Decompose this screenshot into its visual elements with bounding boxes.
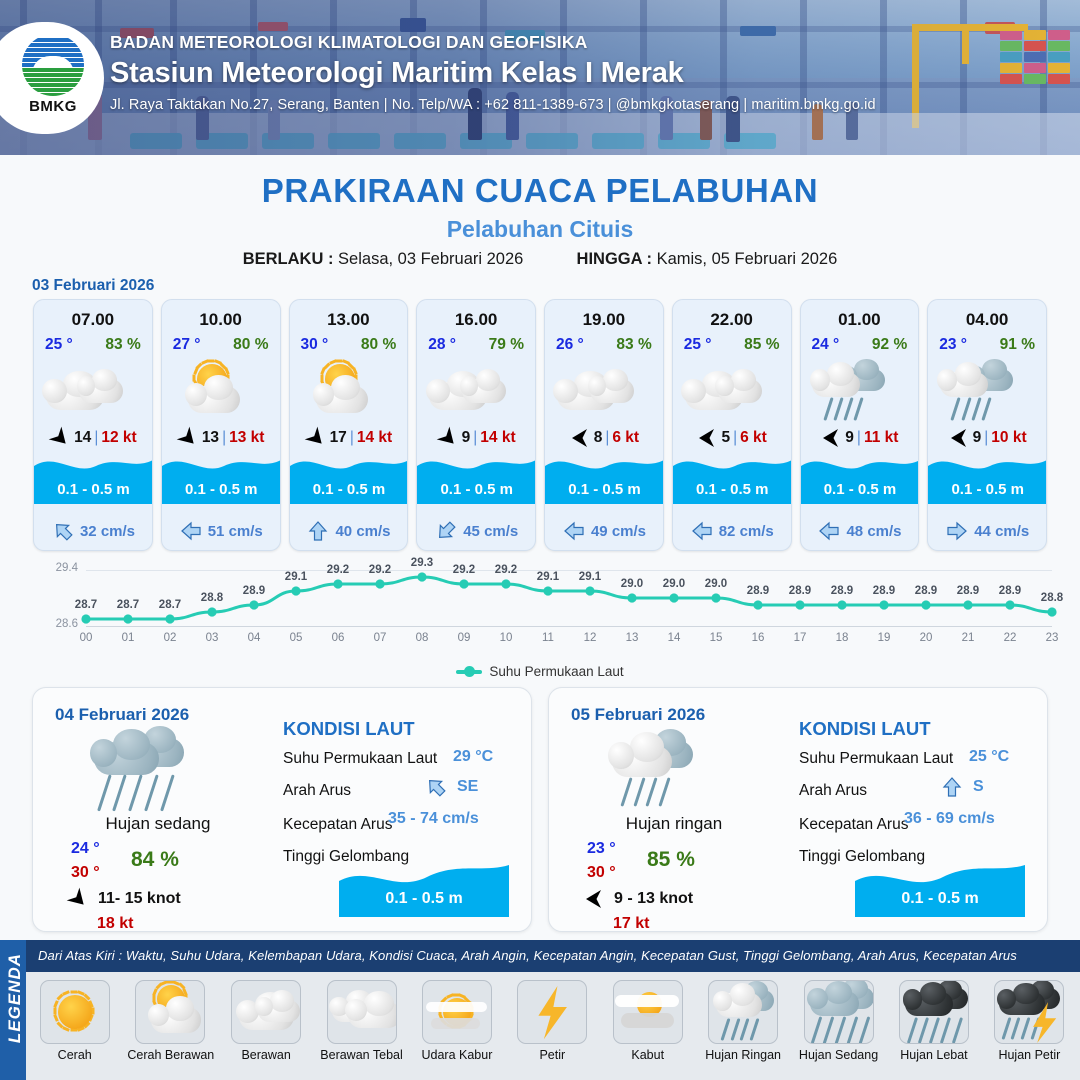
chart-point-label: 28.9	[951, 585, 985, 597]
chart-legend: Suhu Permukaan Laut	[0, 664, 1080, 679]
legend-item-label: Petir	[510, 1048, 595, 1062]
card-temperature: 23 °	[939, 336, 967, 354]
card-wind-row: 5 | 6 kt	[673, 429, 791, 447]
legend-item: Kabut	[605, 980, 690, 1076]
chart-xtick: 19	[870, 632, 898, 644]
chart-point-label: 29.0	[657, 578, 691, 590]
legend-icon-list: Cerah Cerah Berawan Berawan Berawan Teba…	[32, 980, 1072, 1076]
card-wind-separator: |	[605, 429, 609, 447]
bmkg-logo-text: BMKG	[16, 98, 90, 115]
panel-temp-min: 24 °	[71, 840, 100, 858]
cloud-shape	[730, 983, 756, 1006]
hour-card: 19.00 26 ° 83 % 8 | 6 kt 0.1 - 0.5 m	[544, 299, 664, 551]
panel-wave-graphic: 0.1 - 0.5 m	[339, 859, 509, 917]
legend-item-label: Kabut	[605, 1048, 690, 1062]
card-temperature: 27 °	[173, 336, 201, 354]
cloud-shape	[42, 379, 66, 403]
chart-point-label: 29.0	[699, 578, 733, 590]
chart-point-label: 28.8	[1035, 592, 1069, 604]
card-gust-speed: 10 kt	[991, 429, 1026, 447]
cloud-shape	[166, 996, 194, 1020]
wind-direction-arrow	[64, 885, 92, 913]
card-weather-icon-berawan	[417, 360, 535, 422]
chart-xtick: 06	[324, 632, 352, 644]
legend-item-label: Hujan Ringan	[700, 1048, 785, 1062]
card-humidity: 79 %	[489, 336, 524, 354]
cloud-shape	[426, 379, 450, 403]
panel-current-dir-label: Arah Arus	[799, 782, 867, 800]
card-current-row: 48 cm/s	[801, 520, 920, 542]
panel-temp-max: 30 °	[71, 864, 100, 882]
chart-point-label: 29.2	[321, 564, 355, 576]
panel-wind-row: 9 - 13 knot	[583, 890, 693, 908]
wind-direction-arrow	[46, 424, 74, 452]
chart-point-label: 29.2	[489, 564, 523, 576]
card-wind-degree: 17	[330, 429, 347, 447]
chart-point-label: 28.9	[741, 585, 775, 597]
rain-streak	[730, 1018, 740, 1041]
forecast-day-label: 03 Februari 2026	[32, 277, 154, 295]
rain-streak	[918, 1017, 929, 1043]
chart-point-label: 28.9	[993, 585, 1027, 597]
card-wind-separator: |	[857, 429, 861, 447]
cloud-shape	[681, 379, 705, 403]
legend-icon-berawan-tebal	[327, 980, 397, 1044]
sun-icon	[58, 995, 92, 1029]
rain-streak	[907, 1017, 918, 1043]
rain-streak	[749, 1018, 759, 1041]
card-temperature: 25 °	[684, 336, 712, 354]
card-temp-humidity-row: 28 ° 79 %	[417, 336, 535, 354]
legend-item: Hujan Petir	[987, 980, 1072, 1076]
page-subtitle: Pelabuhan Cituis	[0, 216, 1080, 243]
chart-point-label: 28.8	[195, 592, 229, 604]
wind-direction-arrow	[698, 427, 716, 449]
cloud-shape	[553, 379, 577, 403]
panel-gust: 17 kt	[613, 915, 649, 933]
panel-wind-row: 11- 15 knot	[67, 890, 181, 908]
panel-wave-value: 0.1 - 0.5 m	[339, 890, 509, 908]
panel-date: 05 Februari 2026	[571, 705, 705, 725]
rain-streak	[853, 397, 863, 421]
chart-point-label: 29.1	[573, 571, 607, 583]
card-temp-humidity-row: 30 ° 80 %	[290, 336, 408, 354]
wind-direction-arrow	[433, 424, 461, 452]
rain-streak	[859, 1016, 871, 1044]
rain-streak	[658, 777, 670, 806]
chart-legend-label: Suhu Permukaan Laut	[489, 664, 623, 679]
card-weather-icon-berawan	[545, 360, 663, 422]
chart-xtick: 17	[786, 632, 814, 644]
panel-date: 04 Februari 2026	[55, 705, 189, 725]
panel-current-speed-label: Kecepatan Arus	[283, 816, 392, 834]
card-wave-height: 0.1 - 0.5 m	[673, 481, 792, 498]
panel-humidity: 84 %	[131, 848, 179, 872]
rain-streak	[113, 774, 127, 811]
rain-streak	[811, 1016, 823, 1044]
card-weather-icon-berawan	[34, 360, 152, 422]
rain-streak	[128, 774, 142, 811]
card-time: 04.00	[928, 310, 1046, 330]
rain-streak	[951, 1017, 962, 1043]
card-wind-separator: |	[222, 429, 226, 447]
card-wave-height: 0.1 - 0.5 m	[545, 481, 664, 498]
header-banner: BMKG BADAN METEOROLOGI KLIMATOLOGI DAN G…	[0, 0, 1080, 155]
panel-weather-icon-hujan-sedang	[85, 730, 195, 808]
panel-wave-value: 0.1 - 0.5 m	[855, 890, 1025, 908]
legend-note: Dari Atas Kiri : Waktu, Suhu Udara, Kele…	[38, 948, 1017, 963]
card-wave-height: 0.1 - 0.5 m	[928, 481, 1047, 498]
chart-xtick: 23	[1038, 632, 1066, 644]
legend-side-bar: LEGENDA	[0, 940, 26, 1080]
cloud-shape	[903, 989, 923, 1009]
legend-item-label: Udara Kabur	[414, 1048, 499, 1062]
legend-icon-kabut	[613, 980, 683, 1044]
chart-xtick: 05	[282, 632, 310, 644]
current-direction-arrow	[420, 771, 451, 802]
card-temperature: 28 °	[428, 336, 456, 354]
card-temp-humidity-row: 25 ° 85 %	[673, 336, 791, 354]
legend-icon-cerah	[40, 980, 110, 1044]
card-gust-speed: 12 kt	[101, 429, 136, 447]
card-gust-speed: 14 kt	[480, 429, 515, 447]
panel-humidity: 85 %	[647, 848, 695, 872]
sst-chart: 29.428.6 28.70028.70128.70228.80328.9042…	[22, 556, 1060, 656]
legend-icon-berawan	[231, 980, 301, 1044]
rain-streak	[940, 1017, 951, 1043]
card-wave-height: 0.1 - 0.5 m	[801, 481, 920, 498]
cloud-shape	[603, 369, 628, 392]
rain-streak	[621, 777, 633, 806]
card-humidity: 85 %	[744, 336, 779, 354]
card-time: 10.00	[162, 310, 280, 330]
panel-wind-speed: 9 - 13 knot	[614, 890, 693, 908]
rain-streak	[97, 774, 111, 811]
rain-streak	[981, 397, 991, 421]
card-temperature: 25 °	[45, 336, 73, 354]
card-gust-speed: 14 kt	[357, 429, 392, 447]
rain-streak	[823, 397, 833, 421]
cloud-shape	[827, 362, 854, 386]
card-temperature: 26 °	[556, 336, 584, 354]
current-direction-arrow	[180, 520, 202, 542]
card-wind-degree: 13	[202, 429, 219, 447]
card-wind-degree: 9	[845, 429, 854, 447]
card-wind-separator: |	[94, 429, 98, 447]
card-temperature: 24 °	[812, 336, 840, 354]
wind-direction-arrow	[301, 424, 329, 452]
legend-item-label: Berawan	[223, 1048, 308, 1062]
cloud-shape	[90, 739, 117, 767]
rain-streak	[847, 1016, 859, 1044]
chart-xtick: 01	[114, 632, 142, 644]
panel-sst-label: Suhu Permukaan Laut	[283, 750, 437, 768]
chart-xtick: 15	[702, 632, 730, 644]
card-humidity: 83 %	[105, 336, 140, 354]
card-time: 01.00	[801, 310, 919, 330]
hour-card: 22.00 25 ° 85 % 5 | 6 kt 0.1 - 0.5 m	[672, 299, 792, 551]
current-direction-arrow	[431, 515, 462, 546]
legend-item-label: Berawan Tebal	[319, 1048, 404, 1062]
card-wind-row: 17 | 14 kt	[290, 429, 408, 447]
chart-point-label: 29.0	[615, 578, 649, 590]
card-wave-graphic: 0.1 - 0.5 m	[673, 450, 792, 504]
cloud-shape	[270, 990, 293, 1012]
card-humidity: 80 %	[361, 336, 396, 354]
daily-forecast-panel: 05 Februari 2026 Hujan ringan 23 ° 30 ° …	[548, 687, 1048, 932]
panel-temp-max: 30 °	[587, 864, 616, 882]
card-wind-row: 9 | 11 kt	[801, 429, 919, 447]
chart-xtick: 12	[576, 632, 604, 644]
header-station-name: Stasiun Meteorologi Maritim Kelas I Mera…	[110, 57, 876, 90]
card-current-row: 82 cm/s	[673, 520, 792, 542]
chart-point-label: 28.9	[909, 585, 943, 597]
hour-card: 01.00 24 ° 92 % 9 | 11 kt 0.1 - 0.5 m	[800, 299, 920, 551]
wind-direction-arrow	[174, 424, 202, 452]
panel-sst-value: 29 °C	[453, 748, 493, 766]
card-humidity: 83 %	[616, 336, 651, 354]
card-gust-speed: 13 kt	[229, 429, 264, 447]
panel-condition: Hujan sedang	[33, 814, 283, 834]
cloud-shape	[185, 383, 207, 406]
card-time: 19.00	[545, 310, 663, 330]
cloud-shape	[731, 369, 756, 392]
chart-xtick: 20	[912, 632, 940, 644]
card-current-row: 32 cm/s	[34, 520, 153, 542]
card-current-speed: 45 cm/s	[463, 523, 518, 540]
chart-xtick: 08	[408, 632, 436, 644]
chart-xtick: 22	[996, 632, 1024, 644]
sun-ray	[321, 374, 324, 381]
card-wave-graphic: 0.1 - 0.5 m	[162, 450, 281, 504]
hour-card: 13.00 30 ° 80 % 17 | 14 kt 0.1 - 0.5 m	[289, 299, 409, 551]
chart-point-label: 28.7	[111, 599, 145, 611]
validity-period: BERLAKU : Selasa, 03 Februari 2026 HINGG…	[0, 250, 1080, 269]
card-weather-icon-hujan-ringan	[928, 360, 1046, 422]
card-wind-separator: |	[733, 429, 737, 447]
rain-streak	[633, 777, 645, 806]
legend-item: Udara Kabur	[414, 980, 499, 1076]
sun-ray	[70, 1029, 77, 1032]
cloud-shape	[955, 362, 982, 386]
chart-xtick: 18	[828, 632, 856, 644]
legend-item-label: Hujan Sedang	[796, 1048, 881, 1062]
card-current-row: 45 cm/s	[417, 520, 536, 542]
card-wind-row: 14 | 12 kt	[34, 429, 152, 447]
card-temp-humidity-row: 25 ° 83 %	[34, 336, 152, 354]
chart-xtick: 21	[954, 632, 982, 644]
cloud-shape	[364, 991, 394, 1015]
cloud-shape	[810, 369, 830, 391]
current-direction-arrow	[946, 520, 968, 542]
wind-direction-arrow	[571, 427, 589, 449]
card-wave-graphic: 0.1 - 0.5 m	[290, 450, 409, 504]
chart-point-label: 29.2	[363, 564, 397, 576]
legend-side-title: LEGENDA	[5, 943, 25, 1053]
legend-icon-cerah-berawan	[135, 980, 205, 1044]
card-gust-speed: 6 kt	[612, 429, 639, 447]
legend-item-label: Hujan Petir	[987, 1048, 1072, 1062]
header-contact: Jl. Raya Taktakan No.27, Serang, Banten …	[110, 97, 876, 113]
panel-current-dir-arrow	[941, 776, 963, 803]
legend-icon-hujan-petir	[994, 980, 1064, 1044]
rain-streak	[961, 397, 971, 421]
panel-wave-graphic: 0.1 - 0.5 m	[855, 859, 1025, 917]
card-weather-icon-hujan-ringan	[801, 360, 919, 422]
card-wind-row: 13 | 13 kt	[162, 429, 280, 447]
chart-point-label: 28.7	[153, 599, 187, 611]
panel-condition: Hujan ringan	[549, 814, 799, 834]
card-weather-icon-cerah-berawan	[290, 360, 408, 422]
card-temp-humidity-row: 23 ° 91 %	[928, 336, 1046, 354]
cloud-shape	[715, 376, 733, 397]
hour-card: 10.00 27 ° 80 % 13 | 13 kt 0.1 - 0.5 m	[161, 299, 281, 551]
chart-point-label: 28.9	[867, 585, 901, 597]
legend-item-label: Cerah Berawan	[127, 1048, 213, 1062]
card-humidity: 80 %	[233, 336, 268, 354]
card-wave-graphic: 0.1 - 0.5 m	[545, 450, 664, 504]
header-text-block: BADAN METEOROLOGI KLIMATOLOGI DAN GEOFIS…	[110, 32, 876, 113]
panel-gust: 18 kt	[97, 915, 133, 933]
lightning-icon	[995, 981, 1063, 1043]
card-humidity: 91 %	[1000, 336, 1035, 354]
legend-item: Hujan Lebat	[891, 980, 976, 1076]
card-wind-separator: |	[984, 429, 988, 447]
chart-xtick: 16	[744, 632, 772, 644]
legend-note-bar: Dari Atas Kiri : Waktu, Suhu Udara, Kele…	[26, 940, 1080, 972]
card-wind-row: 8 | 6 kt	[545, 429, 663, 447]
cloud-shape	[148, 1004, 169, 1026]
legend-strip: LEGENDA Dari Atas Kiri : Waktu, Suhu Uda…	[0, 940, 1080, 1080]
sun-ray	[53, 1008, 56, 1015]
card-wind-degree: 9	[973, 429, 982, 447]
card-wind-degree: 5	[721, 429, 730, 447]
rain-streak	[971, 397, 981, 421]
card-humidity: 92 %	[872, 336, 907, 354]
chart-point-label: 29.1	[531, 571, 565, 583]
card-weather-icon-berawan	[673, 360, 791, 422]
wind-direction-arrow	[822, 427, 840, 449]
chart-point-label: 28.9	[783, 585, 817, 597]
hour-card: 04.00 23 ° 91 % 9 | 10 kt 0.1 - 0.5 m	[927, 299, 1047, 551]
chart-xtick: 00	[72, 632, 100, 644]
card-wave-height: 0.1 - 0.5 m	[290, 481, 409, 498]
panel-current-dir-label: Arah Arus	[283, 782, 351, 800]
card-current-speed: 51 cm/s	[208, 523, 263, 540]
chart-xtick: 02	[156, 632, 184, 644]
card-gust-speed: 6 kt	[740, 429, 767, 447]
cloud-shape	[630, 732, 664, 762]
legend-item: Hujan Ringan	[700, 980, 785, 1076]
panel-sst-label: Suhu Permukaan Laut	[799, 750, 953, 768]
current-direction-arrow	[941, 776, 963, 798]
rain-streak	[646, 777, 658, 806]
card-current-speed: 40 cm/s	[335, 523, 390, 540]
berlaku-label: BERLAKU :	[243, 250, 334, 268]
rain-streak	[160, 774, 174, 811]
card-temp-humidity-row: 24 ° 92 %	[801, 336, 919, 354]
legend-item: Petir	[510, 980, 595, 1076]
chart-point-label: 28.7	[69, 599, 103, 611]
card-current-speed: 49 cm/s	[591, 523, 646, 540]
card-wind-separator: |	[473, 429, 477, 447]
card-wave-graphic: 0.1 - 0.5 m	[417, 450, 536, 504]
card-time: 13.00	[290, 310, 408, 330]
fog-band	[621, 1013, 674, 1028]
rain-streak	[835, 1016, 847, 1044]
chart-point-label: 28.9	[237, 585, 271, 597]
card-current-speed: 82 cm/s	[719, 523, 774, 540]
card-wave-height: 0.1 - 0.5 m	[162, 481, 281, 498]
rain-streak	[929, 1017, 940, 1043]
cloud-shape	[920, 982, 947, 1005]
cloud-shape	[204, 375, 233, 401]
haze-band	[426, 1002, 487, 1012]
card-current-speed: 32 cm/s	[80, 523, 135, 540]
chart-xtick: 09	[450, 632, 478, 644]
hourly-forecast-row: 07.00 25 ° 83 % 14 | 12 kt 0.1 - 0.5 m	[33, 299, 1047, 549]
rain-streak	[951, 397, 961, 421]
rain-streak	[823, 1016, 835, 1044]
card-time: 07.00	[34, 310, 152, 330]
lightning-icon	[518, 981, 586, 1043]
chart-xtick: 07	[366, 632, 394, 644]
card-current-row: 44 cm/s	[928, 520, 1047, 542]
legend-icon-petir	[517, 980, 587, 1044]
berlaku-value: Selasa, 03 Februari 2026	[338, 250, 523, 268]
panel-temp-min: 23 °	[587, 840, 616, 858]
cloud-shape	[608, 742, 633, 769]
header-organization: BADAN METEOROLOGI KLIMATOLOGI DAN GEOFIS…	[110, 32, 876, 53]
bmkg-logo-disc	[22, 34, 84, 96]
rain-streak	[144, 774, 158, 811]
legend-item: Berawan	[223, 980, 308, 1076]
chart-point-label: 29.1	[279, 571, 313, 583]
card-wave-graphic: 0.1 - 0.5 m	[34, 450, 153, 504]
chart-point-label: 28.9	[825, 585, 859, 597]
card-gust-speed: 11 kt	[864, 429, 898, 447]
rain-streak	[721, 1018, 731, 1041]
hour-card: 07.00 25 ° 83 % 14 | 12 kt 0.1 - 0.5 m	[33, 299, 153, 551]
legend-item: Berawan Tebal	[319, 980, 404, 1076]
current-direction-arrow	[691, 520, 713, 542]
current-direction-arrow	[818, 520, 840, 542]
legend-item: Hujan Sedang	[796, 980, 881, 1076]
cloud-shape	[113, 729, 149, 760]
card-temperature: 30 °	[301, 336, 329, 354]
hingga-label: HINGGA :	[577, 250, 652, 268]
sun-ray	[193, 374, 196, 381]
panel-current-speed-value: 35 - 74 cm/s	[388, 810, 479, 828]
card-current-speed: 48 cm/s	[846, 523, 901, 540]
chart-point-label: 29.2	[447, 564, 481, 576]
cloud-shape	[807, 988, 828, 1009]
legend-item: Cerah	[32, 980, 117, 1076]
card-wind-row: 9 | 10 kt	[928, 429, 1046, 447]
panel-weather-icon-hujan-ringan	[601, 730, 711, 808]
card-current-row: 49 cm/s	[545, 520, 664, 542]
rain-streak	[833, 397, 843, 421]
rain-streak	[843, 397, 853, 421]
chart-point-label: 29.3	[405, 557, 439, 569]
chart-xtick: 11	[534, 632, 562, 644]
panel-current-speed-value: 36 - 69 cm/s	[904, 810, 995, 828]
card-wave-graphic: 0.1 - 0.5 m	[928, 450, 1047, 504]
wind-direction-arrow	[950, 427, 968, 449]
cloud-shape	[92, 369, 117, 392]
panel-sst-value: 25 °C	[969, 748, 1009, 766]
panel-current-dir-value: SE	[457, 778, 478, 796]
